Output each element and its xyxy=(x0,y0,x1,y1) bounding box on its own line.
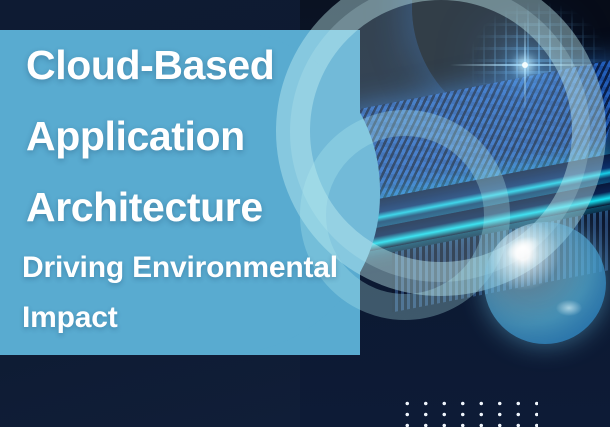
sphere-highlight-secondary xyxy=(556,300,582,316)
text-block: Cloud-Based Application Architecture Dri… xyxy=(0,30,420,355)
title-line-3: Architecture xyxy=(26,172,420,243)
subtitle-line-1: Driving Environmental xyxy=(22,243,420,293)
slide-canvas: Cloud-Based Application Architecture Dri… xyxy=(0,0,610,427)
glossy-sphere xyxy=(484,222,606,344)
title-line-1: Cloud-Based xyxy=(26,30,420,101)
title-line-2: Application xyxy=(26,101,420,172)
dot-grid-pattern xyxy=(398,398,538,427)
subtitle-line-2: Impact xyxy=(22,293,420,343)
